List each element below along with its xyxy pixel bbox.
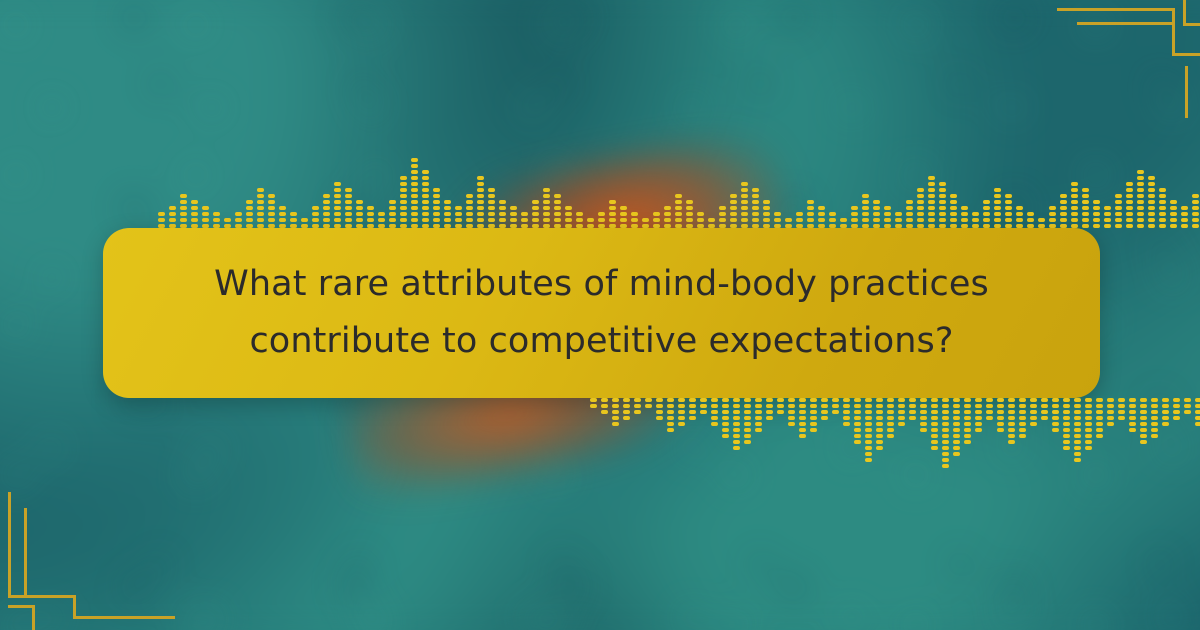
waveform-dot [1107,404,1114,408]
waveform-column [612,398,619,426]
waveform-dot [810,404,817,408]
waveform-dot [609,206,616,210]
waveform-dot [931,434,938,438]
waveform-dot [722,428,729,432]
waveform-column [1052,398,1059,432]
waveform-column [1030,398,1037,426]
waveform-dot [620,212,627,216]
waveform-dot [1041,410,1048,414]
waveform-dot [422,212,429,216]
waveform-dot [821,416,828,420]
waveform-dot [499,212,506,216]
waveform-dot [532,200,539,204]
waveform-dot [942,404,949,408]
waveform-dot [1126,212,1133,216]
waveform-column [697,212,704,228]
waveform-dot [744,434,751,438]
waveform-dot [1085,398,1092,402]
waveform-dot [700,410,707,414]
waveform-dot [799,416,806,420]
waveform-dot [1115,224,1122,228]
waveform-dot [755,410,762,414]
waveform-column [510,206,517,228]
waveform-dot [1184,404,1191,408]
waveform-dot [1096,428,1103,432]
ornament-line-h-elbow [8,595,76,598]
waveform-dot [722,422,729,426]
waveform-column [972,212,979,228]
waveform-dot [400,200,407,204]
waveform-dot [906,218,913,222]
waveform-column [477,176,484,228]
waveform-dot [1008,404,1015,408]
waveform-dot [312,212,319,216]
waveform-dot [645,398,652,402]
waveform-dot [711,398,718,402]
waveform-dot [1041,416,1048,420]
waveform-column [788,398,795,426]
waveform-dot [1129,398,1136,402]
waveform-dot [920,428,927,432]
waveform-column [832,398,839,414]
waveform-column [931,398,938,450]
waveform-dot [345,212,352,216]
waveform-bottom-region [0,398,1200,488]
waveform-dot [1192,200,1199,204]
waveform-dot [722,434,729,438]
waveform-dot [777,398,784,402]
waveform-dot [895,212,902,216]
waveform-dot [224,218,231,222]
waveform-dot [950,200,957,204]
waveform-column [634,398,641,414]
waveform-dot [741,200,748,204]
waveform-dot [1019,416,1026,420]
waveform-column [1170,200,1177,228]
waveform-column [678,398,685,426]
waveform-dot [752,206,759,210]
waveform-column [620,206,627,228]
waveform-dot [854,428,861,432]
waveform-dot [843,422,850,426]
waveform-dot [1170,212,1177,216]
waveform-dot [939,188,946,192]
waveform-dot [1129,422,1136,426]
waveform-dot [1195,416,1200,420]
waveform-column [169,206,176,228]
waveform-dot [675,218,682,222]
waveform-dot [1173,398,1180,402]
waveform-dot [920,422,927,426]
waveform-dot [598,212,605,216]
waveform-dot [928,206,935,210]
waveform-dot [997,428,1004,432]
waveform-dot [477,182,484,186]
waveform-column [587,218,594,228]
waveform-dot [931,416,938,420]
waveform-column [917,188,924,228]
waveform-column [623,398,630,420]
waveform-dot [1170,218,1177,222]
waveform-dot [1151,404,1158,408]
waveform-column [821,398,828,420]
waveform-dot [741,206,748,210]
waveform-column [719,206,726,228]
waveform-dot [1170,224,1177,228]
waveform-dot [873,218,880,222]
waveform-dot [722,404,729,408]
waveform-dot [1107,398,1114,402]
waveform-dot [807,212,814,216]
waveform-dot [950,212,957,216]
waveform-column [642,218,649,228]
waveform-column [180,194,187,228]
waveform-dot [422,188,429,192]
waveform-dot [851,206,858,210]
waveform-dot [1192,206,1199,210]
waveform-column [323,194,330,228]
waveform-dot [829,218,836,222]
waveform-dot [1085,428,1092,432]
waveform-column [906,200,913,228]
waveform-dot [994,194,1001,198]
waveform-dot [1049,218,1056,222]
waveform-dot [202,212,209,216]
waveform-dot [1148,206,1155,210]
waveform-dot [983,218,990,222]
waveform-dot [356,200,363,204]
waveform-dot [994,206,1001,210]
waveform-column [763,200,770,228]
waveform-column [202,206,209,228]
waveform-dot [942,416,949,420]
waveform-dot [854,398,861,402]
waveform-dot [323,194,330,198]
waveform-dot [1027,218,1034,222]
waveform-dot [986,410,993,414]
waveform-dot [1041,404,1048,408]
waveform-dot [1016,218,1023,222]
waveform-top-region [0,150,1200,228]
waveform-dot [865,452,872,456]
waveform-dot [744,422,751,426]
waveform-dot [499,218,506,222]
waveform-dot [576,218,583,222]
ornament-line-h-outer [1057,8,1175,11]
waveform-column [411,158,418,228]
waveform-dot [543,206,550,210]
waveform-dot [1074,422,1081,426]
waveform-dot [678,398,685,402]
waveform-dot [1082,200,1089,204]
waveform-dot [928,200,935,204]
waveform-dot [755,428,762,432]
waveform-dot [1195,398,1200,402]
waveform-column [730,194,737,228]
waveform-column [807,200,814,228]
waveform-dot [1060,206,1067,210]
waveform-dot [741,182,748,186]
waveform-dot [807,218,814,222]
waveform-dot [686,212,693,216]
waveform-dot [590,404,597,408]
waveform-dot [865,434,872,438]
waveform-dot [202,218,209,222]
waveform-column [744,398,751,444]
waveform-column [898,398,905,426]
waveform-dot [598,218,605,222]
waveform-dot [1074,440,1081,444]
waveform-dot [356,212,363,216]
waveform-dot [411,170,418,174]
waveform-dot [400,218,407,222]
waveform-dot [1148,182,1155,186]
waveform-dot [744,428,751,432]
waveform-dot [964,422,971,426]
waveform-column [1118,398,1125,420]
waveform-dot [257,212,264,216]
waveform-dot [953,446,960,450]
waveform-dot [1096,410,1103,414]
waveform-dot [301,218,308,222]
waveform-dot [378,212,385,216]
waveform-dot [942,464,949,468]
waveform-dot [832,398,839,402]
waveform-dot [752,194,759,198]
waveform-dot [1005,218,1012,222]
waveform-column [1195,398,1200,426]
waveform-dot [477,218,484,222]
waveform-dot [876,416,883,420]
waveform-dot [1137,170,1144,174]
waveform-dot [334,212,341,216]
ornament-square-top [8,605,34,608]
waveform-dot [1173,404,1180,408]
waveform-dot [744,398,751,402]
waveform-column [854,398,861,444]
waveform-dot [909,410,916,414]
waveform-column [645,398,652,408]
waveform-dot [1074,446,1081,450]
waveform-dot [876,410,883,414]
waveform-column [851,206,858,228]
waveform-dot [389,212,396,216]
waveform-column [774,212,781,228]
waveform-dot [433,194,440,198]
waveform-column [1184,398,1191,414]
waveform-dot [1052,416,1059,420]
waveform-dot [444,218,451,222]
waveform-dot [876,404,883,408]
waveform-dot [180,218,187,222]
waveform-column [158,212,165,228]
waveform-dot [422,176,429,180]
waveform-dot [689,416,696,420]
waveform-dot [887,422,894,426]
waveform-dot [1107,422,1114,426]
waveform-dot [840,218,847,222]
waveform-column [565,206,572,228]
poster-canvas: What rare attributes of mind-body practi… [0,0,1200,630]
waveform-dot [345,200,352,204]
waveform-dot [928,188,935,192]
waveform-dot [678,416,685,420]
waveform-dot [986,398,993,402]
waveform-dot [895,218,902,222]
waveform-column [1140,398,1147,444]
waveform-dot [477,212,484,216]
waveform-dot [730,212,737,216]
waveform-dot [953,416,960,420]
waveform-column [752,188,759,228]
waveform-dot [1162,398,1169,402]
waveform-column [997,398,1004,432]
waveform-dot [1063,446,1070,450]
waveform-dot [411,158,418,162]
waveform-dot [1126,200,1133,204]
waveform-dot [1192,224,1199,228]
waveform-dot [898,404,905,408]
waveform-dot [741,194,748,198]
waveform-dot [477,206,484,210]
waveform-dot [656,404,663,408]
waveform-dot [1019,410,1026,414]
waveform-column [909,398,916,420]
waveform-dot [1019,422,1026,426]
waveform-column [796,212,803,228]
waveform-dot [766,410,773,414]
waveform-column [700,398,707,414]
waveform-dot [543,194,550,198]
waveform-dot [810,428,817,432]
waveform-dot [686,206,693,210]
waveform-dot [667,398,674,402]
waveform-dot [191,212,198,216]
waveform-dot [488,212,495,216]
waveform-dot [400,212,407,216]
waveform-dot [763,206,770,210]
waveform-dot [601,410,608,414]
waveform-dot [634,398,641,402]
waveform-dot [576,212,583,216]
waveform-dot [1063,422,1070,426]
waveform-dot [873,200,880,204]
waveform-dot [510,206,517,210]
waveform-dot [664,206,671,210]
waveform-dot [733,446,740,450]
waveform-dot [1082,224,1089,228]
waveform-dot [1082,218,1089,222]
waveform-column [1173,398,1180,420]
waveform-dot [246,212,253,216]
waveform-dot [400,176,407,180]
ornament-line-v-inner [1185,66,1188,118]
waveform-dot [975,428,982,432]
waveform-dot [1016,206,1023,210]
waveform-dot [678,422,685,426]
waveform-dot [554,218,561,222]
waveform-dot [931,410,938,414]
waveform-dot [667,416,674,420]
waveform-column [1016,206,1023,228]
waveform-dot [653,218,660,222]
waveform-dot [1181,218,1188,222]
waveform-dot [818,212,825,216]
ornament-line-h-inner [1077,22,1175,25]
waveform-dot [422,200,429,204]
waveform-column [766,398,773,420]
waveform-dot [1027,212,1034,216]
waveform-dot [279,218,286,222]
waveform-dot [623,416,630,420]
waveform-dot [477,188,484,192]
waveform-dot [829,212,836,216]
question-line-1: What rare attributes of mind-body practi… [214,264,989,304]
waveform-dot [975,398,982,402]
waveform-dot [1118,398,1125,402]
waveform-column [532,200,539,228]
waveform-column [1137,170,1144,228]
waveform-dot [532,212,539,216]
waveform-dot [799,428,806,432]
waveform-dot [268,200,275,204]
waveform-dot [873,212,880,216]
waveform-dot [975,410,982,414]
waveform-dot [1173,416,1180,420]
waveform-column [488,188,495,228]
waveform-dot [733,398,740,402]
waveform-dot [953,422,960,426]
waveform-dot [180,206,187,210]
waveform-dot [477,176,484,180]
waveform-dot [664,218,671,222]
waveform-dot [1082,212,1089,216]
waveform-dot [854,422,861,426]
waveform-dot [1063,428,1070,432]
waveform-dot [1151,398,1158,402]
waveform-column [378,212,385,228]
ornament-line-v-outer [8,492,11,598]
waveform-dot [799,398,806,402]
waveform-dot [928,182,935,186]
waveform-dot [898,398,905,402]
waveform-dot [920,398,927,402]
waveform-dot [1041,398,1048,402]
waveform-dot [752,200,759,204]
waveform-dot [1005,194,1012,198]
waveform-dot [1096,404,1103,408]
waveform-dot [865,422,872,426]
waveform-column [741,182,748,228]
waveform-dot [821,404,828,408]
waveform-dot [939,212,946,216]
waveform-dot [964,410,971,414]
waveform-dot [1008,434,1015,438]
waveform-dot [334,218,341,222]
waveform-dot [488,200,495,204]
waveform-column [675,194,682,228]
waveform-dot [744,416,751,420]
waveform-dot [821,410,828,414]
waveform-dot [865,458,872,462]
waveform-dot [532,206,539,210]
waveform-dot [169,206,176,210]
waveform-dot [730,206,737,210]
waveform-dot [488,206,495,210]
waveform-dot [268,194,275,198]
waveform-dot [1115,206,1122,210]
waveform-dot [1071,206,1078,210]
